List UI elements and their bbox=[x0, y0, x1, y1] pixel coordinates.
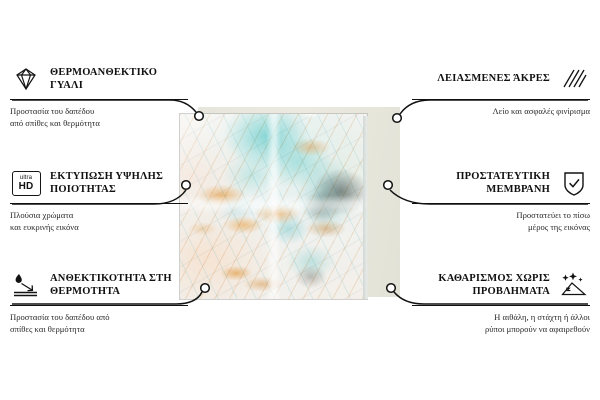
feature-block-ektyposi-ypsilis-poiotitas: ultra HD ΕΚΤΥΠΩΣΗ ΥΨΗΛΗΣ ΠΟΙΟΤΗΤΑΣ Πλούσ… bbox=[10, 166, 188, 234]
product-image bbox=[180, 107, 400, 299]
feature-divider bbox=[10, 99, 188, 100]
feature-block-anthektikotita-sti-thermotita: ΑΝΘΕΚΤΙΚΟΤΗΤΑ ΣΤΗ ΘΕΡΜΟΤΗΤΑ Προστασία το… bbox=[10, 268, 188, 336]
artwork-vein-layer bbox=[180, 114, 367, 299]
feature-title: ΚΑΘΑΡΙΣΜΟΣ ΧΩΡΙΣ ΠΡΟΒΛΗΜΑΤΑ bbox=[412, 272, 550, 299]
product-feature-infographic: ΘΕΡΜΟΑΝΘΕΚΤΙΚΟ ΓΥΑΛΙ Προστασία του δαπέδ… bbox=[0, 0, 600, 400]
feature-divider bbox=[412, 305, 590, 306]
feature-block-leiasmenes-akres: ΛΕΙΑΣΜΕΝΕΣ ΆΚΡΕΣ Λείο και ασφαλές φινίρι… bbox=[412, 62, 590, 117]
feature-head: ΠΡΟΣΤΑΤΕΥΤΙΚΗ ΜΕΜΒΡΑΝΗ bbox=[412, 166, 590, 200]
feature-head: ΘΕΡΜΟΑΝΘΕΚΤΙΚΟ ΓΥΑΛΙ bbox=[10, 62, 188, 96]
polished-edges-icon bbox=[558, 63, 590, 95]
feature-head: ΛΕΙΑΣΜΕΝΕΣ ΆΚΡΕΣ bbox=[412, 62, 590, 96]
shield-check-icon bbox=[558, 167, 590, 199]
feature-title: ΘΕΡΜΟΑΝΘΕΚΤΙΚΟ ΓΥΑΛΙ bbox=[50, 66, 188, 93]
feature-head: ultra HD ΕΚΤΥΠΩΣΗ ΥΨΗΛΗΣ ΠΟΙΟΤΗΤΑΣ bbox=[10, 166, 188, 200]
feature-divider bbox=[412, 203, 590, 204]
feature-description: Η αιθάλη, η στάχτη ή άλλοιρύποι μπορούν … bbox=[412, 311, 590, 336]
ultra-hd-badge-large-text: HD bbox=[19, 182, 34, 192]
heat-resistance-icon bbox=[10, 269, 42, 301]
feature-title: ΠΡΟΣΤΑΤΕΥΤΙΚΗ ΜΕΜΒΡΑΝΗ bbox=[412, 170, 550, 197]
ultra-hd-badge-small-text: ultra bbox=[20, 175, 32, 181]
glass-artwork-panel bbox=[180, 114, 367, 299]
feature-description: Πλούσια χρώματακαι ευκρινής εικόνα bbox=[10, 209, 188, 234]
feature-divider bbox=[10, 203, 188, 204]
feature-description: Προστασία του δαπέδου απόσπίθες και θερμ… bbox=[10, 311, 188, 336]
feature-block-prostateftiki-membrani: ΠΡΟΣΤΑΤΕΥΤΙΚΗ ΜΕΜΒΡΑΝΗ Προστατεύει το πί… bbox=[412, 166, 590, 234]
glass-edge-thickness bbox=[363, 116, 368, 299]
feature-description: Προστατεύει το πίσωμέρος της εικόνας bbox=[412, 209, 590, 234]
diamond-icon bbox=[10, 63, 42, 95]
feature-divider bbox=[412, 99, 590, 100]
ultra-hd-badge-icon: ultra HD bbox=[10, 167, 42, 199]
feature-head: ΑΝΘΕΚΤΙΚΟΤΗΤΑ ΣΤΗ ΘΕΡΜΟΤΗΤΑ bbox=[10, 268, 188, 302]
feature-title: ΕΚΤΥΠΩΣΗ ΥΨΗΛΗΣ ΠΟΙΟΤΗΤΑΣ bbox=[50, 170, 188, 197]
feature-divider bbox=[10, 305, 188, 306]
feature-title: ΛΕΙΑΣΜΕΝΕΣ ΆΚΡΕΣ bbox=[412, 72, 550, 85]
feature-description: Λείο και ασφαλές φινίρισμα bbox=[412, 105, 590, 117]
feature-block-thermoanthektiko-gyali: ΘΕΡΜΟΑΝΘΕΚΤΙΚΟ ΓΥΑΛΙ Προστασία του δαπέδ… bbox=[10, 62, 188, 130]
feature-description: Προστασία του δαπέδουαπό σπίθες και θερμ… bbox=[10, 105, 188, 130]
feature-block-katharismos-choris-provlimata: ΚΑΘΑΡΙΣΜΟΣ ΧΩΡΙΣ ΠΡΟΒΛΗΜΑΤΑ Η αιθάλη, η … bbox=[412, 268, 590, 336]
feature-head: ΚΑΘΑΡΙΣΜΟΣ ΧΩΡΙΣ ΠΡΟΒΛΗΜΑΤΑ bbox=[412, 268, 590, 302]
feature-title: ΑΝΘΕΚΤΙΚΟΤΗΤΑ ΣΤΗ ΘΕΡΜΟΤΗΤΑ bbox=[50, 272, 188, 299]
easy-clean-sparkle-icon bbox=[558, 269, 590, 301]
